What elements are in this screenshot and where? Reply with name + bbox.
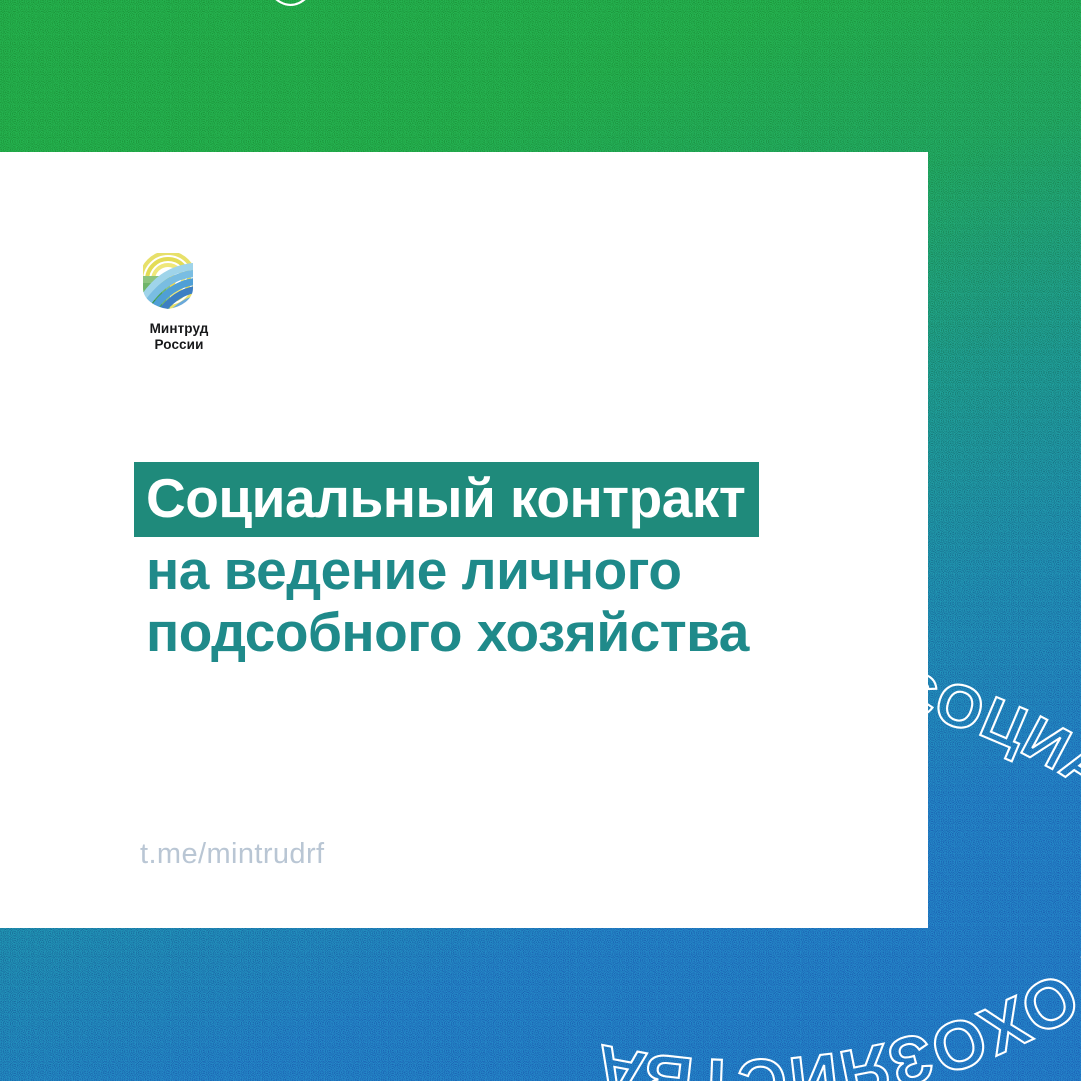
content-card: Минтруд России Социальный контракт на ве… [0,152,928,928]
headline-line1: Социальный контракт [146,471,745,526]
headline-highlight-band: Социальный контракт [134,462,759,537]
mintrud-shield-logo-icon [140,250,196,312]
headline: Социальный контракт на ведение личного п… [134,462,894,663]
poster-root: СОЦИАЛЬНЫЙКОНТРАКТНАВЕДЕНИЕЛИЧНОГОПОДСОБ… [0,0,1081,1081]
footer-telegram-link[interactable]: t.me/mintrudrf [140,838,324,871]
logo: Минтруд России [140,250,250,353]
logo-text-line1: Минтруд [140,321,218,337]
headline-line3: подсобного хозяйства [134,602,894,664]
logo-text: Минтруд России [140,321,218,353]
headline-line2: на ведение личного [134,540,894,602]
logo-text-line2: России [140,337,218,353]
